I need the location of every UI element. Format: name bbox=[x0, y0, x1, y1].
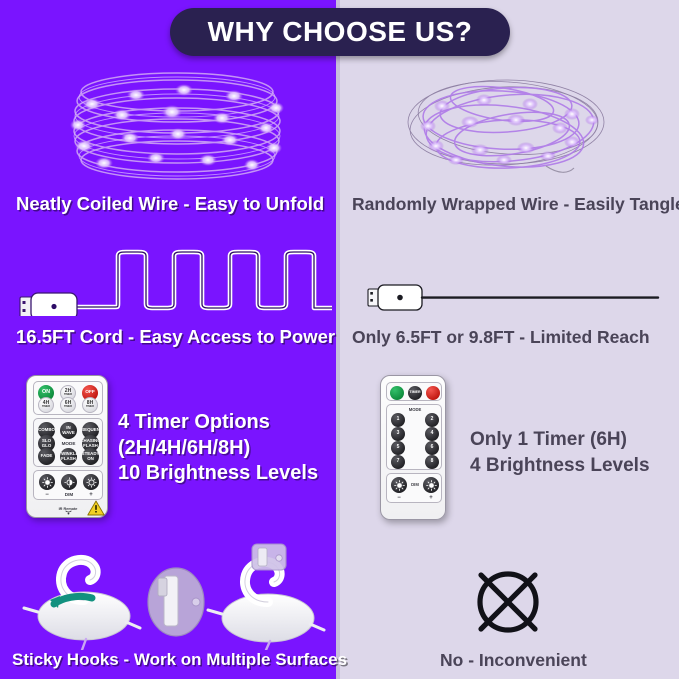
btn-label: 3 bbox=[397, 431, 400, 436]
btn-label: 7 bbox=[397, 459, 400, 464]
row1-left-caption: Neatly Coiled Wire - Easy to Unfold bbox=[16, 193, 324, 215]
ir-signal-icon bbox=[65, 502, 72, 520]
row3-right-line-1: Only 1 Timer (6H) bbox=[470, 427, 650, 453]
btn-label: TWINKLE FLASH bbox=[60, 452, 77, 461]
left-remote-mode-fade[interactable]: FADE bbox=[38, 448, 55, 465]
left-remote-btn-8h[interactable]: 8H TIMER bbox=[82, 397, 98, 413]
page-title-pill: WHY CHOOSE US? bbox=[170, 8, 510, 56]
right-remote-btn-7[interactable]: 7 bbox=[391, 455, 405, 469]
row3-right-line-2: 4 Brightness Levels bbox=[470, 453, 650, 479]
left-remote-mode-in-wave[interactable]: IN WAVE bbox=[60, 422, 77, 439]
right-remote-dim-panel: DIM − + bbox=[386, 473, 442, 503]
left-remote-dim-panel: − DIM + bbox=[33, 470, 103, 500]
btn-label: TIMER bbox=[409, 391, 420, 395]
sticky-hooks-image bbox=[22, 542, 332, 655]
btn-sublabel: TIMER bbox=[42, 406, 50, 409]
right-remote-mode-panel: MODE 1 2 3 4 5 6 7 8 bbox=[386, 404, 442, 470]
row3-left-line-3: 10 Brightness Levels bbox=[118, 461, 318, 487]
no-circle-cross-symbol bbox=[466, 560, 550, 649]
right-remote-btn-4[interactable]: 4 bbox=[425, 427, 439, 441]
long-cord-image bbox=[14, 240, 332, 321]
right-brightness-up-icon[interactable] bbox=[423, 477, 439, 493]
right-brightness-down-icon[interactable] bbox=[391, 477, 407, 493]
right-remote-btn-5[interactable]: 5 bbox=[391, 441, 405, 455]
btn-label: FADE bbox=[41, 454, 53, 459]
tangled-coil-image bbox=[396, 70, 616, 182]
right-remote-dim-label: DIM bbox=[408, 482, 422, 487]
btn-label: COMBO bbox=[38, 428, 55, 433]
btn-label: ON bbox=[42, 390, 50, 396]
btn-label: 1 bbox=[397, 417, 400, 422]
left-remote-btn-6h[interactable]: 6H TIMER bbox=[60, 397, 76, 413]
btn-label: 8 bbox=[431, 459, 434, 464]
btn-label: 6 bbox=[431, 445, 434, 450]
page-title: WHY CHOOSE US? bbox=[208, 16, 473, 48]
btn-label: 4 bbox=[431, 431, 434, 436]
right-ir-remote: TIMER MODE 1 2 3 4 5 6 7 8 DIM − + bbox=[380, 375, 446, 520]
comparison-infographic: WHY CHOOSE US? bbox=[0, 0, 679, 679]
warning-triangle-icon bbox=[87, 500, 105, 521]
left-remote-mode-twinkle-flash[interactable]: TWINKLE FLASH bbox=[60, 448, 77, 465]
right-remote-btn-6[interactable]: 6 bbox=[425, 441, 439, 455]
btn-label: SLO GLO bbox=[38, 439, 55, 448]
btn-label: CHASING FLASH bbox=[82, 439, 99, 448]
btn-sublabel: TIMER bbox=[64, 406, 72, 409]
left-remote-dim-minus[interactable]: − bbox=[40, 492, 54, 498]
right-remote-btn-3[interactable]: 3 bbox=[391, 427, 405, 441]
brightness-low-icon[interactable] bbox=[83, 474, 99, 490]
right-remote-btn-2[interactable]: 2 bbox=[425, 413, 439, 427]
left-remote-dim-label: DIM bbox=[62, 492, 76, 497]
right-remote-btn-timer[interactable]: TIMER bbox=[408, 386, 422, 400]
left-remote-timer-panel: ON 2H TIMER OFF 4H TIMER 6H TIMER 8H TIM… bbox=[33, 381, 103, 415]
left-remote-footer-label: IR Remote bbox=[50, 507, 86, 511]
btn-label: STEADY ON bbox=[82, 452, 99, 461]
left-remote-btn-4h[interactable]: 4H TIMER bbox=[38, 397, 54, 413]
right-remote-mode-label: MODE bbox=[406, 407, 424, 412]
right-remote-btn-8[interactable]: 8 bbox=[425, 455, 439, 469]
btn-label: SEQUEN bbox=[82, 428, 99, 433]
right-remote-dim-plus[interactable]: + bbox=[425, 495, 437, 501]
btn-sublabel: TIMER bbox=[86, 406, 94, 409]
right-remote-btn-on[interactable] bbox=[390, 386, 404, 400]
btn-label: 2 bbox=[431, 417, 434, 422]
brightness-half-icon[interactable] bbox=[61, 474, 77, 490]
row4-right-caption: No - Inconvenient bbox=[440, 650, 587, 671]
row3-left-text-block: 4 Timer Options (2H/4H/6H/8H) 10 Brightn… bbox=[118, 410, 318, 487]
left-ir-remote: ON 2H TIMER OFF 4H TIMER 6H TIMER 8H TIM… bbox=[26, 375, 108, 518]
row1-right-caption: Randomly Wrapped Wire - Easily Tangled bbox=[352, 194, 679, 215]
right-remote-top-panel: TIMER bbox=[386, 382, 442, 401]
vertical-divider bbox=[336, 0, 340, 679]
neat-coil-image bbox=[44, 68, 310, 186]
left-remote-mode-label: MODE bbox=[60, 441, 77, 446]
btn-label: 5 bbox=[397, 445, 400, 450]
btn-label: IN WAVE bbox=[60, 426, 77, 435]
left-remote-dim-plus[interactable]: + bbox=[84, 492, 98, 498]
row2-left-caption: 16.5FT Cord - Easy Access to Power bbox=[16, 326, 335, 348]
btn-label: OFF bbox=[85, 390, 95, 395]
right-remote-dim-minus[interactable]: − bbox=[393, 495, 405, 501]
row3-left-line-2: (2H/4H/6H/8H) bbox=[118, 436, 318, 462]
right-remote-btn-off[interactable] bbox=[426, 386, 440, 400]
brightness-full-icon[interactable] bbox=[39, 474, 55, 490]
right-remote-btn-1[interactable]: 1 bbox=[391, 413, 405, 427]
left-remote-mode-steady-on[interactable]: STEADY ON bbox=[82, 448, 99, 465]
row4-left-caption: Sticky Hooks - Work on Multiple Surfaces bbox=[12, 650, 347, 670]
row3-right-text-block: Only 1 Timer (6H) 4 Brightness Levels bbox=[470, 427, 650, 478]
row3-left-line-1: 4 Timer Options bbox=[118, 410, 318, 436]
left-remote-mode-panel: COMBO IN WAVE SEQUEN SLO GLO MODE CHASIN… bbox=[33, 418, 103, 467]
short-cord-image bbox=[366, 281, 661, 316]
row2-right-caption: Only 6.5FT or 9.8FT - Limited Reach bbox=[352, 327, 650, 348]
